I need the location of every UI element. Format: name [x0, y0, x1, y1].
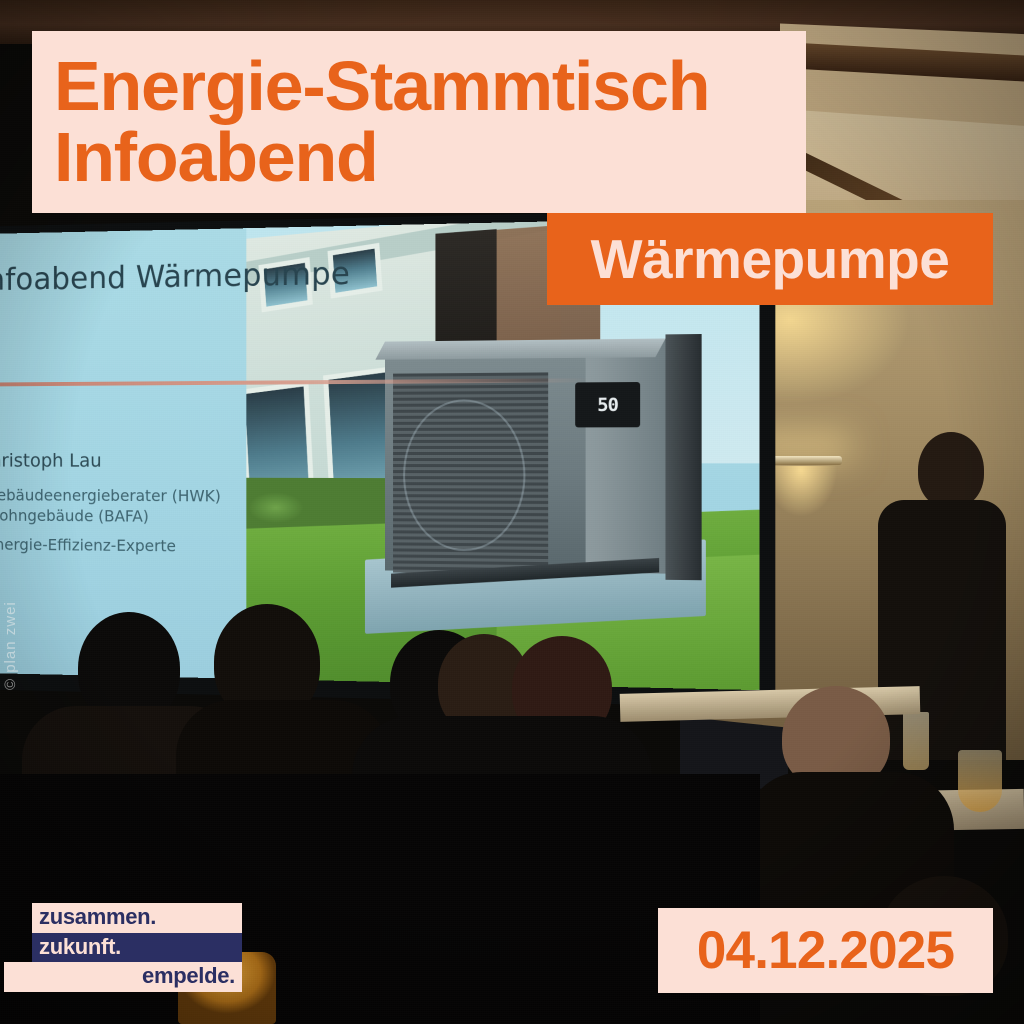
heat-pump-temperature: 50 — [597, 394, 618, 416]
date-badge: 04.12.2025 — [658, 908, 993, 993]
heat-pump-display: 50 — [575, 382, 640, 427]
logo-line-3: empelde. — [4, 962, 242, 992]
slide-title: Infoabend Wärmepumpe — [0, 256, 350, 298]
speaker-body — [878, 500, 1006, 760]
title-line-1: Energie-Stammtisch — [54, 51, 806, 122]
logo-line-1: zusammen. — [32, 903, 242, 933]
slide-credential-0: Gebäudeenergieberater (HWK) — [0, 486, 221, 506]
speaker-head — [918, 432, 984, 508]
campaign-logo: zusammen. zukunft. empelde. — [32, 903, 242, 992]
slide-credential-2: Energie-Effizienz-Experte — [0, 535, 176, 555]
topic-badge: Wärmepumpe — [547, 213, 993, 305]
wine-glass — [958, 750, 1002, 812]
poster-canvas: 50 Infoabend Wärmepumpe Christoph Lau Ge… — [0, 0, 1024, 1024]
slide-credential-1: Wohngebäude (BAFA) — [0, 506, 149, 526]
slide-presenter-name: Christoph Lau — [0, 450, 102, 471]
logo-line-2: zukunft. — [32, 933, 242, 963]
title-box: Energie-Stammtisch Infoabend — [32, 31, 806, 213]
title-line-2: Infoabend — [54, 122, 806, 193]
heat-pump-unit: 50 — [385, 334, 695, 582]
copyright-watermark: © plan zwei — [2, 601, 19, 690]
topic-badge-label: Wärmepumpe — [591, 227, 950, 291]
event-date: 04.12.2025 — [697, 920, 954, 981]
drinking-glass-1 — [903, 712, 929, 770]
slide-credentials: Gebäudeenergieberater (HWK) Wohngebäude … — [0, 485, 221, 557]
